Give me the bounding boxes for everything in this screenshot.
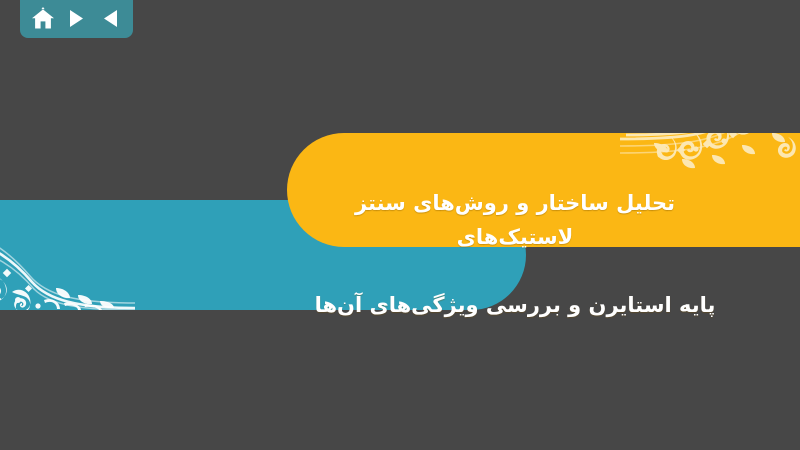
next-button[interactable]	[64, 6, 90, 30]
previous-button[interactable]	[97, 6, 123, 30]
navigation-bar	[20, 0, 133, 38]
slide-title: تحلیل ساختار و روش‌های سنتز لاستیک‌های پ…	[300, 152, 730, 356]
home-button[interactable]	[30, 6, 56, 30]
back-triangle-icon	[102, 9, 119, 28]
teal-arabesque-ornament-icon	[0, 200, 135, 310]
slide-title-line-1: تحلیل ساختار و روش‌های سنتز لاستیک‌های	[300, 186, 730, 254]
slide-canvas: تحلیل ساختار و روش‌های سنتز لاستیک‌های پ…	[0, 0, 800, 450]
slide-title-line-2: پایه استایرن و بررسی ویژگی‌های آن‌ها	[300, 288, 730, 322]
forward-triangle-icon	[68, 9, 85, 28]
home-icon	[31, 7, 55, 30]
